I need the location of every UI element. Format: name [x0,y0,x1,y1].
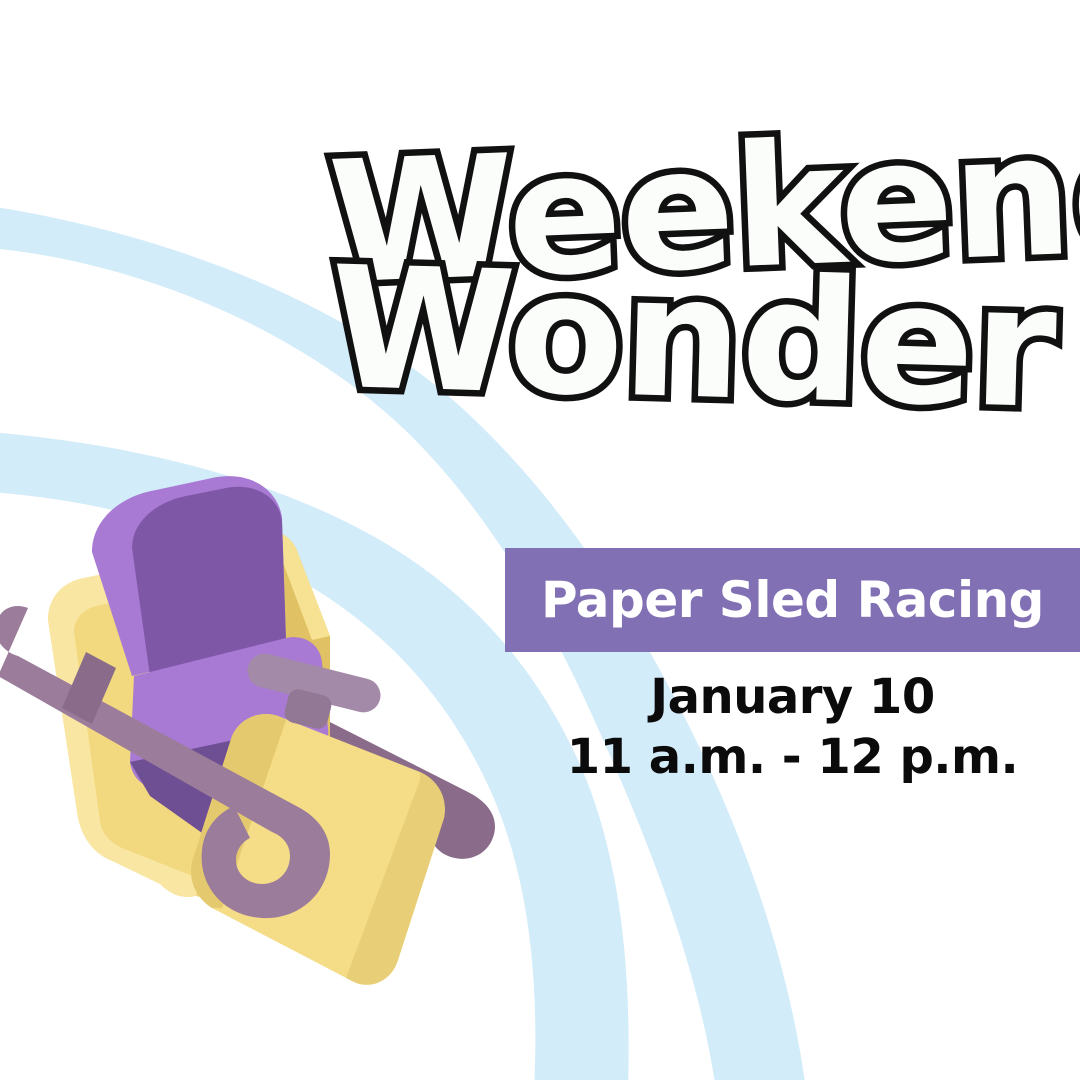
subtitle-banner: Paper Sled Racing [505,548,1080,652]
subtitle-label: Paper Sled Racing [541,571,1044,629]
page-title: Weekend Wonder [332,118,1052,426]
sled-illustration [0,440,580,1000]
title-line-two: Wonder [328,250,1052,426]
poster-canvas: Weekend Wonder Paper Sled Racing January… [0,0,1080,1080]
event-date: January 10 [505,668,1080,728]
event-time: 11 a.m. - 12 p.m. [505,728,1080,788]
event-details: January 10 11 a.m. - 12 p.m. [505,668,1080,787]
